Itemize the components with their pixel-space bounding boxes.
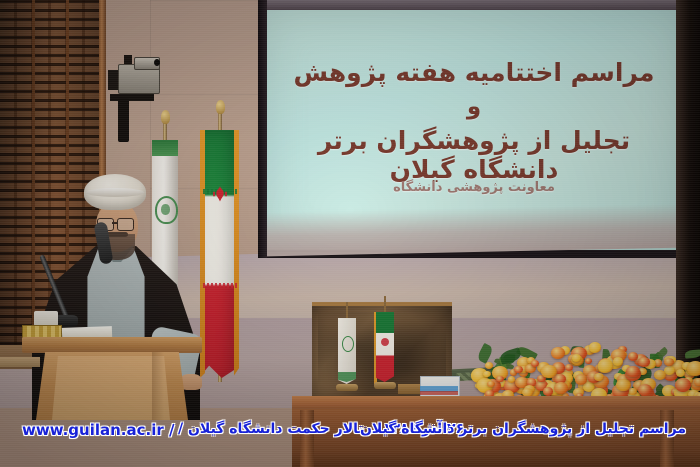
flower-leaf (476, 343, 494, 364)
desk-flag-university-logo-icon (342, 336, 354, 352)
side-table (0, 357, 40, 367)
photograph: مراسم اختتامیه هفته پژوهش و تجلیل از پژو… (0, 0, 700, 467)
speaker-moustache (106, 232, 128, 237)
camera-mount-arm (110, 94, 154, 101)
flower-blossom (514, 366, 522, 373)
flower-blossom (638, 357, 649, 367)
flag-university-green-band (152, 140, 178, 156)
flower-blossom (565, 364, 573, 371)
flower-blossom (496, 376, 504, 383)
desk-flag-iran (376, 312, 394, 382)
flower-blossom (676, 369, 685, 377)
flower-blossom (585, 358, 592, 364)
desk-flagpole-university (346, 302, 348, 320)
flagpole-finial (216, 100, 225, 114)
projection-screen-left-edge (258, 0, 267, 258)
slide-title-line2: و (267, 94, 681, 120)
flower-arrangement (470, 338, 700, 400)
flower-blossom (613, 357, 623, 366)
flower-blossom (626, 366, 639, 377)
flower-blossom (575, 374, 588, 385)
flag-iran-fringe-right (234, 130, 239, 378)
desk-flag-base (374, 382, 396, 389)
glasses-bridge (112, 222, 118, 224)
flagpole-finial (161, 110, 170, 124)
flower-blossom (508, 376, 515, 382)
desk-flag-base (336, 384, 358, 391)
desk-flagpole-iran (384, 296, 386, 314)
flower-blossom (628, 352, 638, 360)
flower-blossom (687, 361, 700, 375)
flower-blossom (543, 387, 553, 395)
conference-table-front (292, 409, 700, 467)
glasses-right-lens (117, 218, 134, 231)
flower-blossom (551, 347, 565, 359)
desk-flag-iran-emblem-icon (381, 338, 389, 346)
podium-edge-shadow (152, 352, 164, 420)
slide-title-line3: تجلیل از پژوهشگران برتر دانشگاه گیلان (267, 126, 681, 184)
flower-blossom (572, 354, 581, 362)
flower-blossom (598, 359, 613, 372)
slide-title-line1: مراسم اختتامیه هفته پژوهش (267, 58, 681, 87)
flower-blossom (589, 342, 601, 352)
camera-lens-glass (154, 59, 160, 66)
flower-blossom (487, 381, 494, 387)
flower-leaf (685, 349, 700, 358)
projection-screen-bottom-fade (267, 204, 681, 257)
conference-table-leg (660, 410, 674, 467)
flower-blossom (664, 358, 673, 366)
tissue-box-band-red (420, 391, 458, 395)
slide-content: مراسم اختتامیه هفته پژوهش و تجلیل از پژو… (267, 10, 681, 210)
flag-iran-emblem-icon (211, 185, 229, 203)
camera-mount-bracket (118, 98, 129, 142)
conference-table-top (292, 396, 700, 410)
conference-table-leg (300, 410, 314, 467)
slide-subtitle: معاونت پژوهشی دانشگاه (267, 180, 681, 195)
podium-tissue-box (34, 311, 58, 326)
flower-blossom (694, 378, 700, 386)
turban-wrap (86, 188, 144, 197)
podium-top (22, 337, 202, 353)
flower-blossom (594, 373, 603, 381)
